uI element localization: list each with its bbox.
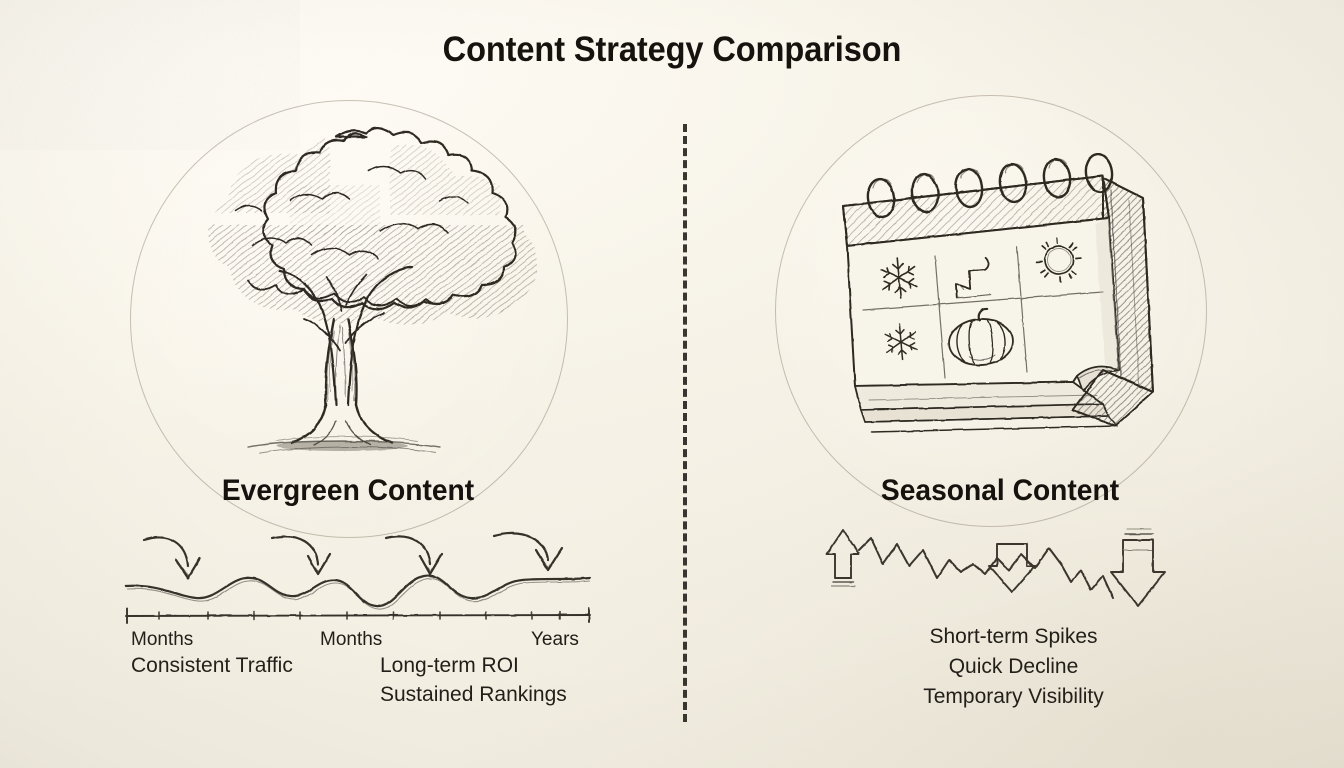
tree-illustration: [140, 105, 560, 465]
seasonal-captions: Short-term Spikes Quick Decline Temporar…: [683, 622, 1344, 712]
seasonal-panel: Seasonal Content: [683, 0, 1344, 768]
axis-label-years: Years: [531, 625, 579, 654]
caption-long-term-roi: Long-term ROI: [380, 651, 567, 680]
axis-label-months-1: Months: [131, 625, 193, 654]
seasonal-heading: Seasonal Content: [765, 474, 1235, 508]
caption-sustained-rankings: Sustained Rankings: [380, 680, 567, 709]
evergreen-panel: Evergreen Content: [0, 0, 683, 768]
axis-label-months-2: Months: [320, 625, 382, 654]
caption-roi-rankings: Long-term ROI Sustained Rankings: [380, 651, 567, 709]
infographic-canvas: Content Strategy Comparison: [0, 0, 1344, 768]
caption-temporary-visibility: Temporary Visibility: [683, 682, 1344, 712]
calendar-illustration: [803, 120, 1183, 450]
caption-quick-decline: Quick Decline: [683, 652, 1344, 682]
seasonal-trend-graphic: [813, 520, 1183, 620]
caption-short-term-spikes: Short-term Spikes: [683, 622, 1344, 652]
caption-consistent-traffic: Consistent Traffic: [131, 651, 293, 680]
evergreen-heading: Evergreen Content: [113, 474, 583, 508]
